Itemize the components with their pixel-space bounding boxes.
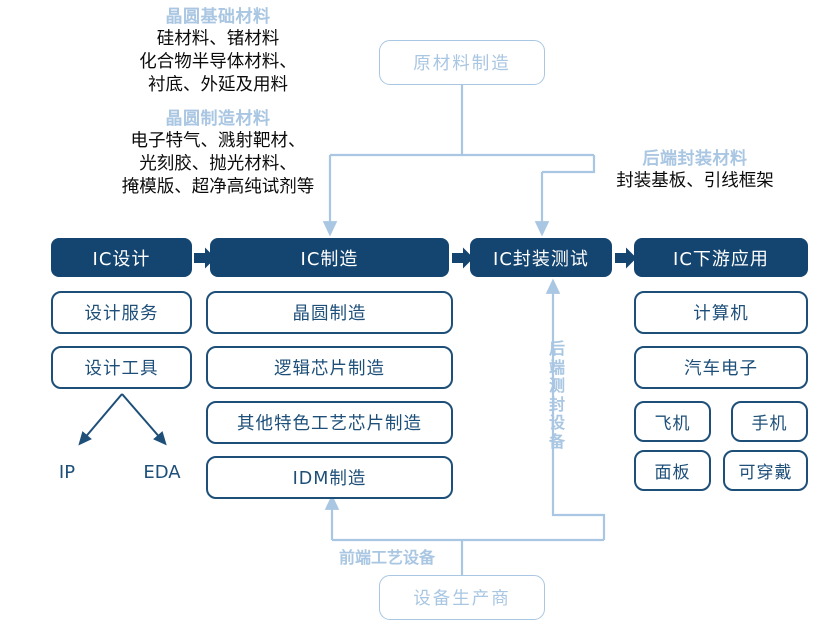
downstream-item-label: 面板: [655, 458, 691, 483]
ic-value-chain-diagram: 晶圆基础材料 硅材料、锗材料 化合物半导体材料、 衬底、外延及用料 晶圆制造材料…: [0, 0, 838, 630]
manufacture-item-label: 其他特色工艺芯片制造: [237, 410, 422, 435]
material-group-wafer-base: 晶圆基础材料 硅材料、锗材料 化合物半导体材料、 衬底、外延及用料: [93, 6, 343, 96]
equipment-maker-label: 设备生产商: [413, 585, 511, 610]
material-line: 光刻胶、抛光材料、: [83, 153, 353, 176]
design-leaf-ip: IP: [47, 462, 87, 483]
stage-chip-ic-downstream-application[interactable]: IC下游应用: [634, 238, 808, 277]
design-item-label: 设计工具: [85, 355, 159, 380]
downstream-item-label: 手机: [752, 409, 788, 434]
manufacture-item-idm[interactable]: IDM制造: [206, 456, 453, 499]
vertical-char: 端: [547, 359, 567, 378]
stage-label: IC设计: [93, 245, 151, 271]
vertical-char: 后: [547, 340, 567, 359]
design-item-design-service[interactable]: 设计服务: [51, 291, 192, 334]
material-line: 衬底、外延及用料: [93, 74, 343, 97]
stage-label: IC下游应用: [673, 245, 769, 271]
equipment-maker-box[interactable]: 设备生产商: [379, 575, 545, 620]
vertical-char: 测: [547, 377, 567, 396]
manufacture-item-label: IDM制造: [293, 465, 367, 490]
material-line: 电子特气、溅射靶材、: [83, 130, 353, 153]
vertical-char: 设: [547, 414, 567, 433]
design-item-design-tools[interactable]: 设计工具: [51, 346, 192, 389]
design-item-label: 设计服务: [85, 300, 159, 325]
vertical-char: 封: [547, 396, 567, 415]
material-line: 封装基板、引线框架: [560, 170, 830, 193]
downstream-item-mobile-phone[interactable]: 手机: [731, 401, 808, 442]
frontend-equipment-text: 前端工艺设备: [339, 548, 435, 567]
manufacture-item-label: 晶圆制造: [293, 300, 367, 325]
manufacture-item-logic-chip[interactable]: 逻辑芯片制造: [206, 346, 453, 389]
stage-chip-ic-packaging-test[interactable]: IC封装测试: [470, 238, 612, 277]
downstream-item-wearable[interactable]: 可穿戴: [723, 450, 808, 491]
design-leaf-label: IP: [59, 462, 75, 483]
downstream-item-label: 可穿戴: [739, 458, 793, 483]
raw-material-manufacturing-label: 原材料制造: [413, 50, 511, 75]
vertical-char: 备: [547, 433, 567, 452]
stage-label: IC制造: [301, 245, 359, 271]
downstream-item-label: 汽车电子: [684, 355, 758, 380]
stage-chip-ic-design[interactable]: IC设计: [51, 238, 192, 277]
frontend-process-equipment-label: 前端工艺设备: [336, 544, 438, 568]
downstream-item-label: 飞机: [655, 409, 691, 434]
downstream-item-computer[interactable]: 计算机: [634, 291, 808, 334]
downstream-item-label: 计算机: [693, 300, 749, 325]
manufacture-item-specialty-process-chip[interactable]: 其他特色工艺芯片制造: [206, 401, 453, 444]
material-group-wafer-fab: 晶圆制造材料 电子特气、溅射靶材、 光刻胶、抛光材料、 掩模版、超净高纯试剂等: [83, 108, 353, 198]
downstream-item-automotive-electronics[interactable]: 汽车电子: [634, 346, 808, 389]
manufacture-item-wafer-fabrication[interactable]: 晶圆制造: [206, 291, 453, 334]
material-heading-backend-package: 后端封装材料: [560, 148, 830, 170]
manufacture-item-label: 逻辑芯片制造: [274, 355, 385, 380]
material-group-backend-package: 后端封装材料 封装基板、引线框架: [560, 148, 830, 193]
material-line: 掩模版、超净高纯试剂等: [83, 176, 353, 199]
design-leaf-label: EDA: [143, 462, 180, 483]
backend-test-package-equipment-label: 后 端 测 封 设 备: [547, 340, 567, 451]
downstream-item-aircraft[interactable]: 飞机: [634, 401, 711, 442]
material-line: 化合物半导体材料、: [93, 51, 343, 74]
stage-chip-ic-manufacturing[interactable]: IC制造: [210, 238, 449, 277]
material-line: 硅材料、锗材料: [93, 28, 343, 51]
design-leaf-eda: EDA: [135, 462, 189, 483]
downstream-item-panel[interactable]: 面板: [634, 450, 711, 491]
raw-material-manufacturing-box[interactable]: 原材料制造: [379, 40, 545, 85]
material-heading-wafer-base: 晶圆基础材料: [93, 6, 343, 28]
material-heading-wafer-fab: 晶圆制造材料: [83, 108, 353, 130]
stage-label: IC封装测试: [493, 245, 589, 271]
